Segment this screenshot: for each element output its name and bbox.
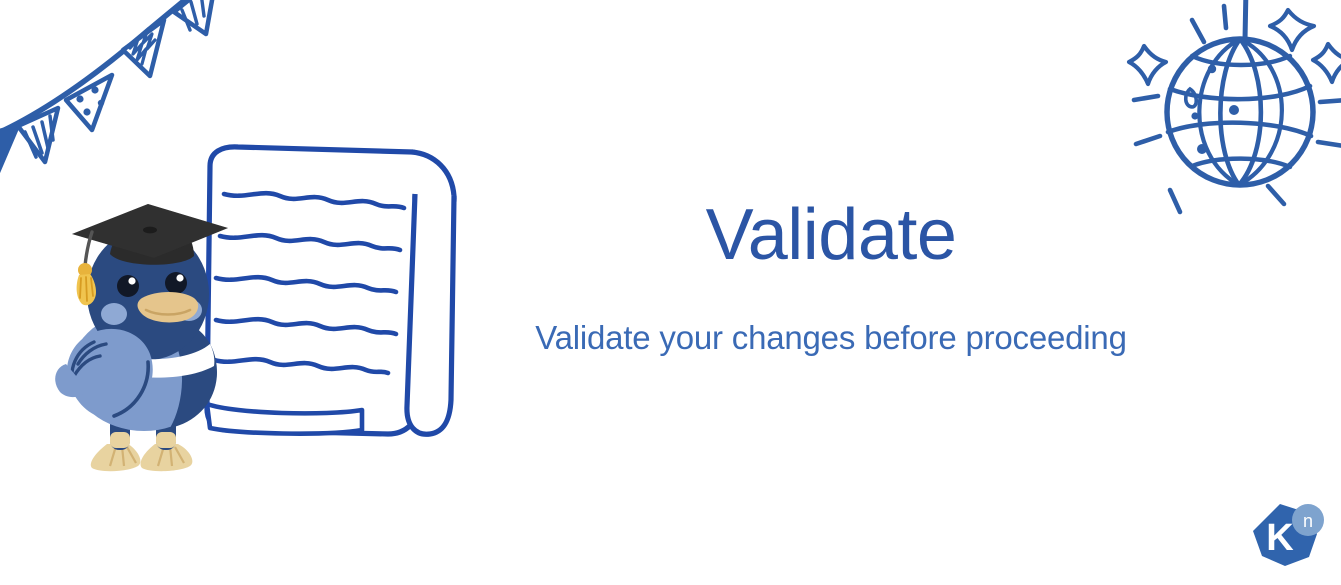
disco-ball-icon: [1118, 0, 1341, 230]
graduate-bird-mascot-icon: [52, 186, 242, 476]
logo-badge-letter: n: [1303, 511, 1313, 531]
hero-text-block: Validate Validate your changes before pr…: [466, 198, 1196, 357]
logo-letter: K: [1266, 517, 1294, 559]
page-subtitle: Validate your changes before proceeding: [466, 318, 1196, 358]
party-bunting-banner-icon: [0, 0, 242, 180]
slide-canvas: Validate Validate your changes before pr…: [0, 0, 1341, 585]
brand-logo: K n: [1247, 500, 1329, 572]
paper-scroll-icon: [176, 138, 466, 450]
page-title: Validate: [466, 198, 1196, 274]
